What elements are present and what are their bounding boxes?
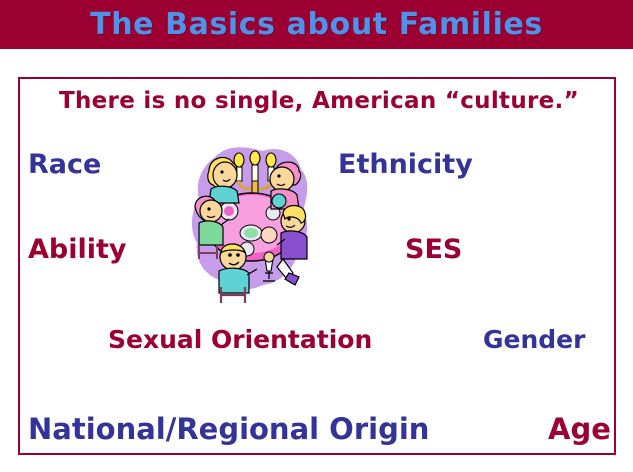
slide-content-box: There is no single, American “culture.”	[18, 77, 616, 455]
person-top-left	[208, 157, 239, 203]
slide-subtitle: There is no single, American “culture.”	[20, 88, 618, 114]
label-national-regional-origin: National/Regional Origin	[28, 415, 429, 444]
label-ses: SES	[405, 236, 462, 263]
label-sexual-orientation: Sexual Orientation	[108, 327, 372, 352]
label-ability: Ability	[28, 236, 127, 263]
label-age: Age	[548, 415, 611, 444]
label-ethnicity: Ethnicity	[338, 151, 473, 178]
slide-title-banner: The Basics about Families	[0, 0, 633, 49]
page-title: The Basics about Families	[90, 10, 543, 40]
label-gender: Gender	[483, 327, 585, 352]
label-race: Race	[28, 151, 101, 178]
family-dinner-clipart	[185, 141, 320, 306]
